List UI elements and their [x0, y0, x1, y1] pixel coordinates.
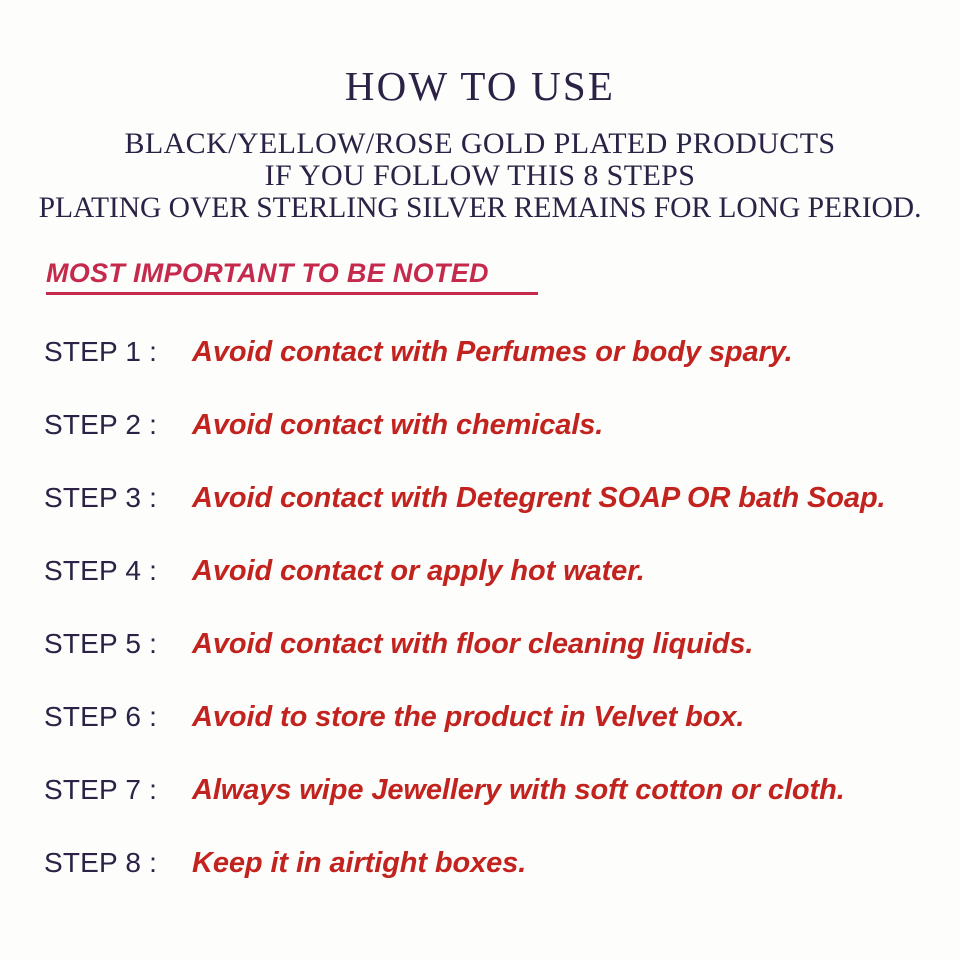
- subtitle-line-2: IF YOU FOLLOW THIS 8 STEPS: [0, 160, 960, 192]
- subtitle-block: BLACK/YELLOW/ROSE GOLD PLATED PRODUCTS I…: [0, 128, 960, 224]
- step-text: Keep it in airtight boxes.: [192, 846, 526, 880]
- step-text: Avoid to store the product in Velvet box…: [192, 700, 744, 734]
- page-title: HOW TO USE: [0, 64, 960, 108]
- instruction-sheet: HOW TO USE BLACK/YELLOW/ROSE GOLD PLATED…: [0, 0, 960, 960]
- step-row: STEP 8 : Keep it in airtight boxes.: [0, 847, 960, 920]
- step-text: Avoid contact with chemicals.: [192, 408, 603, 442]
- step-label: STEP 3 :: [44, 482, 157, 514]
- subtitle-line-3: PLATING OVER STERLING SILVER REMAINS FOR…: [7, 192, 953, 224]
- step-text: Avoid contact with Perfumes or body spar…: [192, 335, 793, 369]
- steps-list: STEP 1 : Avoid contact with Perfumes or …: [0, 336, 960, 920]
- important-notice-underline: [46, 292, 538, 295]
- step-row: STEP 4 : Avoid contact or apply hot wate…: [0, 555, 960, 628]
- step-row: STEP 1 : Avoid contact with Perfumes or …: [0, 336, 960, 409]
- important-notice-heading: MOST IMPORTANT TO BE NOTED: [46, 258, 489, 288]
- important-notice: MOST IMPORTANT TO BE NOTED: [46, 258, 538, 295]
- step-row: STEP 6 : Avoid to store the product in V…: [0, 701, 960, 774]
- step-row: STEP 2 : Avoid contact with chemicals.: [0, 409, 960, 482]
- step-label: STEP 5 :: [44, 628, 157, 660]
- step-label: STEP 2 :: [44, 409, 157, 441]
- step-text: Avoid contact or apply hot water.: [192, 554, 645, 588]
- step-text: Avoid contact with Detegrent SOAP OR bat…: [192, 481, 886, 515]
- step-label: STEP 4 :: [44, 555, 157, 587]
- step-label: STEP 6 :: [44, 701, 157, 733]
- step-row: STEP 5 : Avoid contact with floor cleani…: [0, 628, 960, 701]
- step-label: STEP 1 :: [44, 336, 157, 368]
- step-text: Avoid contact with floor cleaning liquid…: [192, 627, 753, 661]
- step-label: STEP 8 :: [44, 847, 157, 879]
- step-label: STEP 7 :: [44, 774, 157, 806]
- step-row: STEP 3 : Avoid contact with Detegrent SO…: [0, 482, 960, 555]
- subtitle-line-1: BLACK/YELLOW/ROSE GOLD PLATED PRODUCTS: [0, 128, 960, 160]
- step-row: STEP 7 : Always wipe Jewellery with soft…: [0, 774, 960, 847]
- step-text: Always wipe Jewellery with soft cotton o…: [192, 773, 845, 807]
